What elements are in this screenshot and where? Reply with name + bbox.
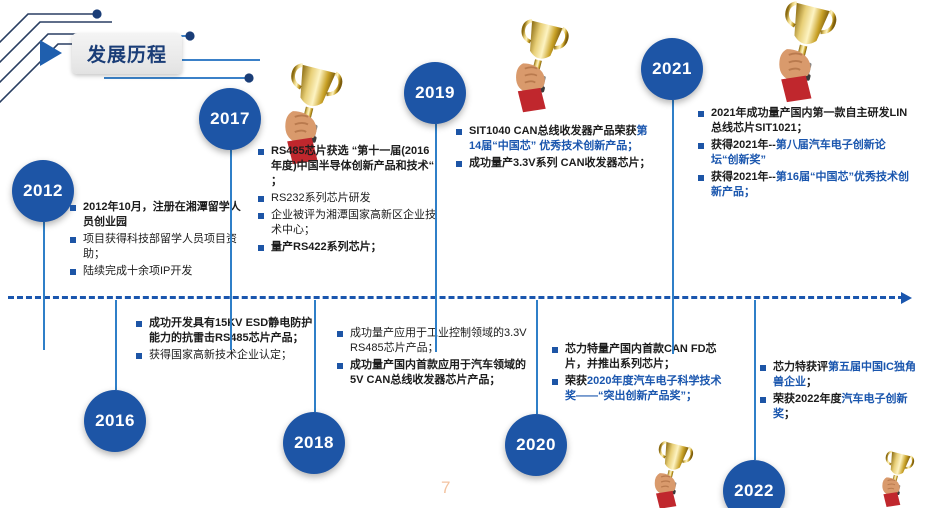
bullet-item: 荣获2022年度汽车电子创新奖； — [760, 392, 926, 422]
bullet-item: 企业被评为湘潭国家高新区企业技术中心； — [258, 208, 436, 238]
milestone-text-2012: 2012年10月，注册在湘潭留学人员创业园项目获得科技部留学人员项目资助；陆续完… — [70, 200, 245, 281]
timeline-axis-line — [8, 296, 904, 299]
milestone-text-2020: 芯力特量产国内首款CAN FD芯片，并推出系列芯片；荣获2020年度汽车电子科学… — [552, 342, 732, 406]
bullet-text: 量产RS422系列芯片； — [271, 241, 382, 253]
year-node-2017[interactable]: 2017 — [199, 88, 261, 150]
timeline-connector-2012 — [43, 222, 45, 350]
bullet-text: 成功量产应用于工业控制领域的3.3V RS485芯片产品； — [350, 327, 527, 354]
bullet-text: 企业被评为湘潭国家高新区企业技术中心； — [271, 209, 436, 236]
bullet-item: 成功量产国内首款应用于汽车领域的5V CAN总线收发器芯片产品； — [337, 358, 527, 388]
bullet-list-2020: 芯力特量产国内首款CAN FD芯片，并推出系列芯片；荣获2020年度汽车电子科学… — [552, 342, 732, 404]
bullet-item: 芯力特获评第五届中国IC独角兽企业； — [760, 360, 926, 390]
bullet-list-2012: 2012年10月，注册在湘潭留学人员创业园项目获得科技部留学人员项目资助；陆续完… — [70, 200, 245, 279]
bullet-item: SIT1040 CAN总线收发器产品荣获第14届“中国芯” 优秀技术创新产品； — [456, 124, 656, 154]
year-node-2022[interactable]: 2022 — [723, 460, 785, 508]
bullet-text: RS485芯片获选 “第十一届(2016年度)中国半导体创新产品和技术“ ； — [271, 145, 434, 187]
year-node-2018[interactable]: 2018 — [283, 412, 345, 474]
bullet-item: 项目获得科技部留学人员项目资助； — [70, 232, 245, 262]
timeline-connector-2022 — [754, 300, 756, 460]
milestone-text-2022: 芯力特获评第五届中国IC独角兽企业；荣获2022年度汽车电子创新奖； — [760, 360, 926, 424]
year-node-2021[interactable]: 2021 — [641, 38, 703, 100]
trophy-icon-2020 — [630, 440, 710, 508]
milestone-text-2021: 2021年成功量产国内第一款自主研发LIN总线芯片SIT1021；获得2021年… — [698, 106, 913, 202]
milestone-text-2018: 成功量产应用于工业控制领域的3.3V RS485芯片产品；成功量产国内首款应用于… — [337, 326, 527, 390]
bullet-list-2016: 成功开发具有15KV ESD静电防护能力的抗雷击RS485芯片产品；获得国家高新… — [136, 316, 314, 363]
bullet-item: 2021年成功量产国内第一款自主研发LIN总线芯片SIT1021； — [698, 106, 913, 136]
bullet-highlight-text: 2020年度汽车电子科学技术奖——“突出创新产品奖”； — [565, 375, 721, 402]
timeline-connector-2017 — [230, 150, 232, 350]
bullet-item: 荣获2020年度汽车电子科学技术奖——“突出创新产品奖”； — [552, 374, 732, 404]
timeline-connector-2019 — [435, 124, 437, 352]
trophy6 — [762, 0, 842, 104]
milestone-text-2016: 成功开发具有15KV ESD静电防护能力的抗雷击RS485芯片产品；获得国家高新… — [136, 316, 314, 365]
bullet-item: 2012年10月，注册在湘潭留学人员创业园 — [70, 200, 245, 230]
bullet-text: 获得2021年-- — [711, 139, 776, 151]
bullet-text: 芯力特量产国内首款CAN FD芯片，并推出系列芯片； — [565, 343, 717, 370]
trophy7 — [860, 450, 930, 508]
bullet-list-2022: 芯力特获评第五届中国IC独角兽企业；荣获2022年度汽车电子创新奖； — [760, 360, 926, 422]
timeline-connector-2021 — [672, 100, 674, 354]
bullet-list-2021: 2021年成功量产国内第一款自主研发LIN总线芯片SIT1021；获得2021年… — [698, 106, 913, 200]
play-triangle-icon — [40, 40, 62, 66]
bullet-text: ； — [784, 408, 795, 420]
bullet-text: SIT1040 CAN总线收发器产品荣获 — [469, 125, 636, 137]
year-node-2012[interactable]: 2012 — [12, 160, 74, 222]
bullet-item: 陆续完成十余项IP开发 — [70, 264, 245, 279]
timeline-connector-2020 — [536, 300, 538, 414]
year-node-2020[interactable]: 2020 — [505, 414, 567, 476]
timeline-axis — [8, 296, 912, 299]
bullet-text: 荣获 — [565, 375, 587, 387]
bullet-text: 项目获得科技部留学人员项目资助； — [83, 233, 237, 260]
bullet-text: 2012年10月，注册 — [83, 201, 175, 213]
bullet-text: 获得国家高新技术企业认定； — [149, 349, 292, 361]
bullet-item: 量产RS422系列芯片； — [258, 240, 436, 255]
bullet-item: 获得国家高新技术企业认定； — [136, 348, 314, 363]
timeline-axis-arrow-icon — [901, 292, 912, 304]
bullet-list-2019: SIT1040 CAN总线收发器产品荣获第14届“中国芯” 优秀技术创新产品；成… — [456, 124, 656, 171]
bullet-list-2017: RS485芯片获选 “第十一届(2016年度)中国半导体创新产品和技术“ ；RS… — [258, 144, 436, 255]
trophy4 — [500, 18, 574, 114]
bullet-item: RS485芯片获选 “第十一届(2016年度)中国半导体创新产品和技术“ ； — [258, 144, 436, 189]
bullet-text: ； — [806, 376, 817, 388]
milestone-text-2017: RS485芯片获选 “第十一届(2016年度)中国半导体创新产品和技术“ ；RS… — [258, 144, 436, 257]
bullet-item: 成功量产应用于工业控制领域的3.3V RS485芯片产品； — [337, 326, 527, 356]
bullet-item: RS232系列芯片研发 — [258, 191, 436, 206]
timeline-connector-2016 — [115, 300, 117, 390]
milestone-text-2019: SIT1040 CAN总线收发器产品荣获第14届“中国芯” 优秀技术创新产品；成… — [456, 124, 656, 173]
year-node-2016[interactable]: 2016 — [84, 390, 146, 452]
page-number: 7 — [441, 478, 450, 498]
bullet-text: 荣获2022年度 — [773, 393, 841, 405]
trophy-icon-2022 — [860, 450, 930, 508]
bullet-item: 芯力特量产国内首款CAN FD芯片，并推出系列芯片； — [552, 342, 732, 372]
bullet-text: 2021年成功量产国内第一款自主研发LIN总线芯片SIT1021； — [711, 107, 907, 134]
bullet-text: RS232系列芯片研发 — [271, 192, 371, 204]
bullet-item: 获得2021年--第八届汽车电子创新论坛“创新奖” — [698, 138, 913, 168]
bullet-text: 获得2021年-- — [711, 171, 776, 183]
bullet-text: 成功量产国内首款应用于汽车领域的5V CAN总线收发器芯片产品； — [350, 359, 526, 386]
bullet-item: 成功开发具有15KV ESD静电防护能力的抗雷击RS485芯片产品； — [136, 316, 314, 346]
bullet-item: 获得2021年--第16届“中国芯”优秀技术创新产品； — [698, 170, 913, 200]
bullet-text: 陆续完成十余项IP开发 — [83, 265, 192, 277]
page-title: 发展历程 — [72, 33, 182, 74]
page-title-text: 发展历程 — [87, 40, 167, 67]
bullet-text: 成功量产3.3V系列 CAN收发器芯片； — [469, 157, 651, 169]
bullet-text: 芯力特获评 — [773, 361, 828, 373]
trophy-icon-2021 — [762, 0, 842, 109]
bullet-list-2018: 成功量产应用于工业控制领域的3.3V RS485芯片产品；成功量产国内首款应用于… — [337, 326, 527, 388]
slide-canvas: 发展历程 20122012年10月，注册在湘潭留学人员创业园项目获得科技部留学人… — [0, 0, 930, 508]
trophy-icon-2019 — [500, 18, 574, 119]
bullet-item: 成功量产3.3V系列 CAN收发器芯片； — [456, 156, 656, 171]
year-node-2019[interactable]: 2019 — [404, 62, 466, 124]
timeline-connector-2018 — [314, 300, 316, 412]
trophy5 — [630, 440, 710, 508]
